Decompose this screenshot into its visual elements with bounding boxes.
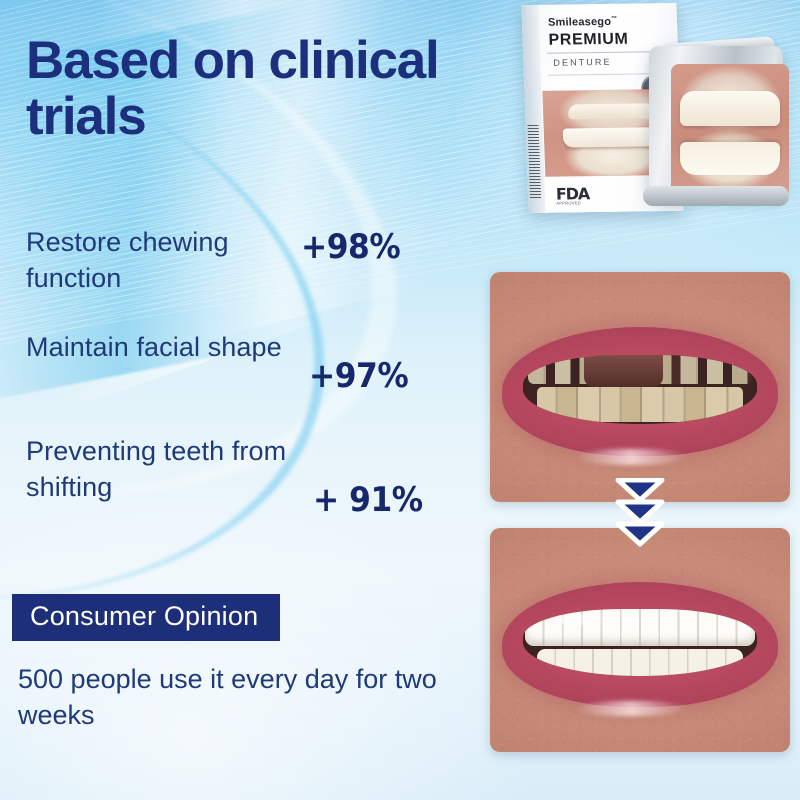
after-lower-teeth — [537, 649, 743, 676]
product-packaging: Smileasego™ PREMIUM DENTURE FDA APPROVED — [505, 0, 800, 234]
brand-text: Smileasego — [548, 16, 612, 29]
benefit-label: Preventing teeth from shifting — [26, 434, 301, 505]
consumer-opinion-text: 500 people use it every day for two week… — [18, 662, 458, 733]
tin-body — [649, 46, 783, 196]
chevron-down-icon — [612, 478, 668, 550]
after-lip-highlight — [574, 701, 688, 717]
after-mouth — [523, 609, 757, 676]
after-photo — [490, 528, 790, 752]
benefit-percent: + 91% — [313, 480, 423, 520]
benefit-row: Restore chewing function +98% — [26, 225, 456, 296]
benefit-label: Maintain facial shape — [26, 330, 301, 366]
before-lower-teeth — [537, 387, 743, 423]
denture-model — [671, 64, 789, 198]
upper-denture-arch — [680, 91, 779, 126]
box-tier-label: PREMIUM — [548, 31, 628, 50]
benefit-percent: +98% — [301, 227, 400, 267]
before-photo — [490, 272, 790, 502]
box-brand-name: Smileasego™ — [548, 16, 618, 29]
lower-denture-arch — [680, 142, 779, 176]
down-arrow-icon — [612, 478, 668, 550]
before-mouth — [523, 355, 757, 424]
benefit-row: Preventing teeth from shifting + 91% — [26, 434, 456, 520]
benefit-list: Restore chewing function +98% Maintain f… — [26, 225, 456, 530]
benefit-percent: +97% — [309, 356, 408, 396]
after-teeth-shine — [556, 614, 617, 626]
advertisement-canvas: Based on clinical trials Restore chewing… — [0, 0, 800, 800]
after-upper-teeth — [525, 609, 754, 647]
benefit-label: Restore chewing function — [26, 225, 301, 296]
denture-tin-container — [635, 36, 795, 206]
before-missing-tooth-gap — [584, 355, 664, 387]
box-fineprint-bottom — [555, 211, 670, 213]
page-title: Based on clinical trials — [26, 33, 496, 144]
benefit-row: Maintain facial shape +97% — [26, 330, 456, 400]
box-category-label: DENTURE — [553, 57, 612, 68]
consumer-opinion-banner: Consumer Opinion — [12, 594, 280, 641]
tin-base — [643, 186, 789, 206]
fda-sublabel: APPROVED — [556, 200, 581, 205]
trademark-symbol: ™ — [611, 16, 617, 22]
